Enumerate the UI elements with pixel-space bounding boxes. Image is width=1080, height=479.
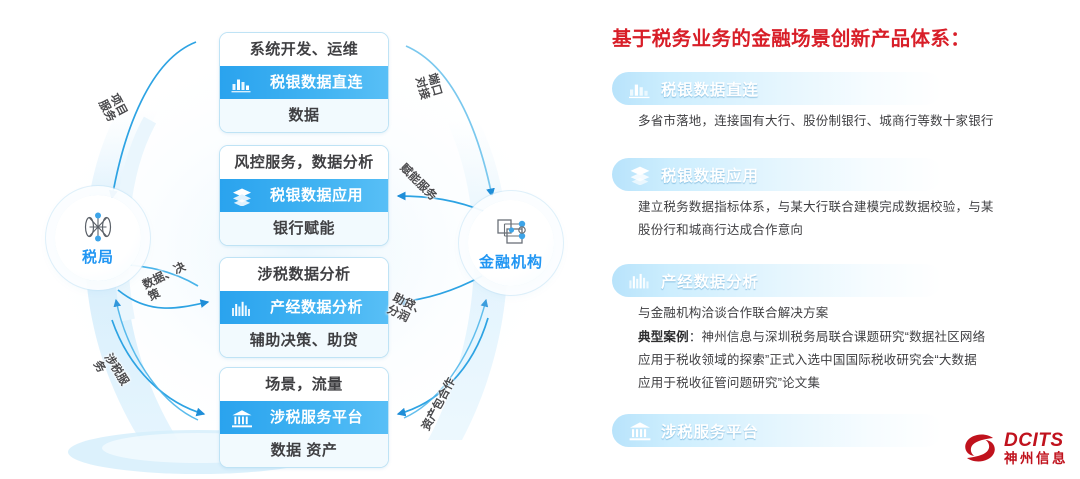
dcits-wordmark-cn: 神州信息 <box>1004 452 1068 466</box>
product-system-panel: 基于税务业务的金融场景创新产品体系： 税银数据直连 多省市落地，连接国有大行、股… <box>600 0 1080 479</box>
slide-root: 税局 金融机构 系统开发、运维 <box>0 0 1080 479</box>
card-top-label: 涉税数据分析 <box>220 258 388 291</box>
panel-title: 基于税务业务的金融场景创新产品体系： <box>612 22 970 51</box>
card-top-label: 系统开发、运维 <box>220 33 388 66</box>
layers-icon <box>231 186 253 206</box>
hub-financial-institution[interactable]: 金融机构 <box>468 200 554 286</box>
section-pill-industrial-economic-data-analysis[interactable]: 产经数据分析 <box>612 264 942 297</box>
dcits-wordmark: DCITS 神州信息 <box>1004 431 1068 466</box>
section-pill-tax-bank-data-direct[interactable]: 税银数据直连 <box>612 72 942 105</box>
card-title-row[interactable]: 产经数据分析 <box>220 291 388 324</box>
section-pill-label: 税银数据直连 <box>661 78 759 100</box>
hub-tax-bureau-label: 税局 <box>82 246 114 267</box>
dcits-wordmark-en: DCITS <box>1004 431 1068 450</box>
card-mid-label: 产经数据分析 <box>261 291 388 324</box>
card-title-row[interactable]: 涉税服务平台 <box>220 401 388 434</box>
section-pill-tax-bank-data-application[interactable]: 税银数据应用 <box>612 158 942 191</box>
section-pill-label: 产经数据分析 <box>661 270 759 292</box>
financial-institution-icon <box>493 215 529 249</box>
bank-icon <box>231 408 253 428</box>
bar-chart-icon <box>231 73 253 93</box>
dcits-mark-icon <box>963 433 997 463</box>
card-tax-bank-data-application[interactable]: 风控服务，数据分析 税银数据应用 银行赋能 <box>219 145 389 246</box>
card-bottom-label: 辅助决策、助贷 <box>220 324 388 357</box>
hub-financial-institution-label: 金融机构 <box>479 251 543 272</box>
section-body-tax-bank-data-direct: 多省市落地，连接国有大行、股份制银行、城商行等数十家银行 <box>638 110 1070 133</box>
hub-tax-bureau[interactable]: 税局 <box>55 195 141 281</box>
card-bottom-label: 银行赋能 <box>220 212 388 245</box>
layers-icon <box>628 165 652 185</box>
card-title-row[interactable]: 税银数据直连 <box>220 66 388 99</box>
card-bottom-label: 数据 资产 <box>220 434 388 467</box>
card-tax-bank-data-direct[interactable]: 系统开发、运维 税银数据直连 数据 <box>219 32 389 133</box>
card-top-label: 场景，流量 <box>220 368 388 401</box>
card-bottom-label: 数据 <box>220 99 388 132</box>
card-tax-service-platform[interactable]: 场景，流量 涉税服务平台 数据 资产 <box>219 367 389 468</box>
card-mid-label: 涉税服务平台 <box>261 401 388 434</box>
section-pill-label: 税银数据应用 <box>661 164 759 186</box>
tax-bureau-icon <box>80 210 116 244</box>
card-industrial-economic-data-analysis[interactable]: 涉税数据分析 产经数据分析 辅助决策、助贷 <box>219 257 389 358</box>
histogram-icon <box>628 271 652 291</box>
card-mid-label: 税银数据应用 <box>261 179 388 212</box>
section-body-industrial-economic-data-analysis: 与金融机构洽谈合作联合解决方案 <box>638 302 1070 325</box>
dcits-logo: DCITS 神州信息 <box>963 431 1068 466</box>
card-top-label: 风控服务，数据分析 <box>220 146 388 179</box>
section-body-tax-bank-data-application: 建立税务数据指标体系，与某大行联合建模完成数据校验，与某股份行和城商行达成合作意… <box>638 196 1070 242</box>
flow-diagram: 税局 金融机构 系统开发、运维 <box>0 0 600 479</box>
card-mid-label: 税银数据直连 <box>261 66 388 99</box>
card-title-row[interactable]: 税银数据应用 <box>220 179 388 212</box>
section-case-study-industrial-economic-data-analysis: 典型案例：神州信息与深圳税务局联合课题研究“数据社区网络应用于税收领域的探索”正… <box>638 326 1070 395</box>
bar-chart-icon <box>628 79 652 99</box>
section-pill-label: 涉税服务平台 <box>661 420 759 442</box>
section-pill-tax-service-platform[interactable]: 涉税服务平台 <box>612 414 942 447</box>
bank-icon <box>628 421 652 441</box>
histogram-icon <box>231 298 253 318</box>
